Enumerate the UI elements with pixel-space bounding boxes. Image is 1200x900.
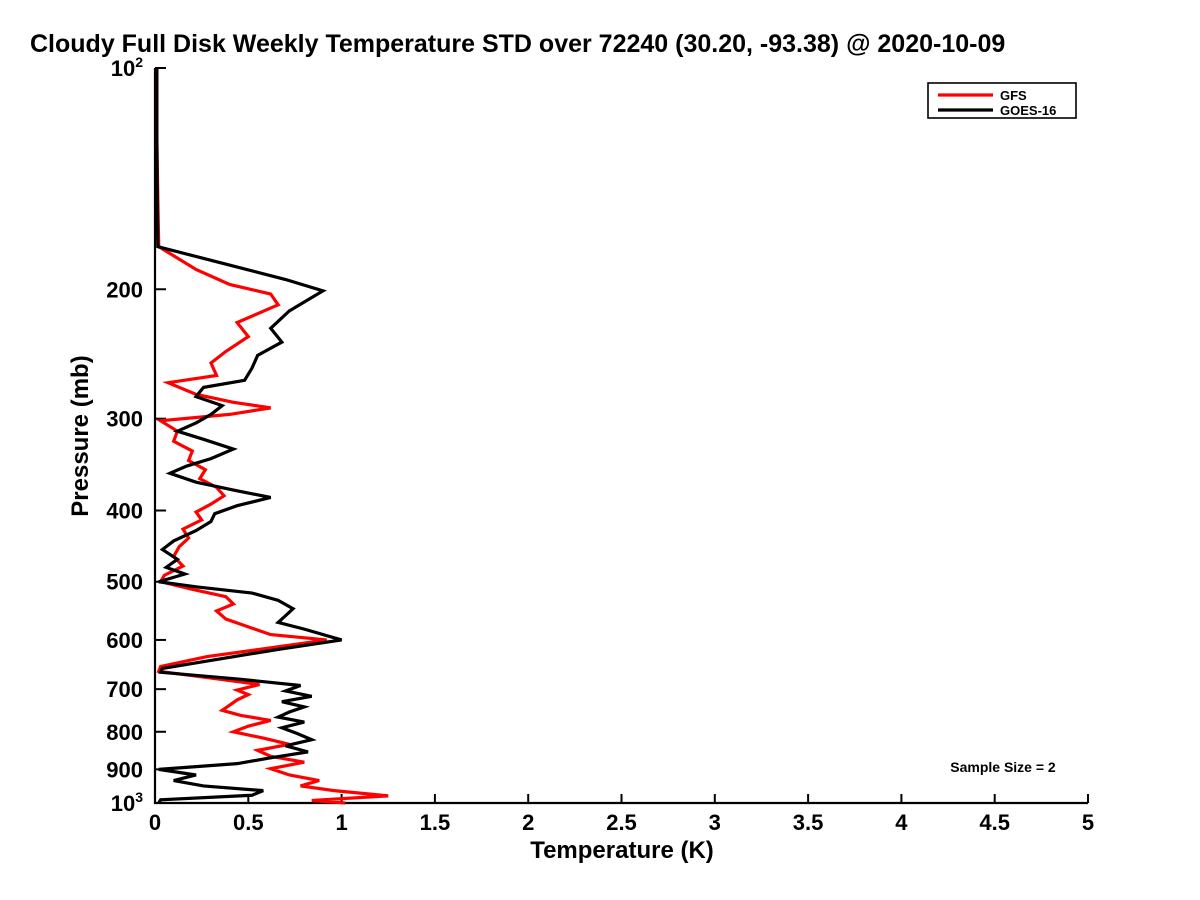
x-tick-label: 1.5 [420, 810, 451, 835]
legend-label-gfs: GFS [1000, 88, 1027, 103]
legend[interactable]: GFS GOES-16 [928, 83, 1076, 118]
y-tick-label: 700 [106, 677, 143, 702]
sample-size-annotation: Sample Size = 2 [950, 759, 1056, 775]
y-tick-label: 600 [106, 628, 143, 653]
x-axis-title: Temperature (K) [530, 837, 714, 864]
x-tick-label: 2.5 [606, 810, 637, 835]
x-tick-label: 3 [709, 810, 721, 835]
y-tick-label: 400 [106, 499, 143, 524]
legend-label-goes16: GOES-16 [1000, 103, 1056, 118]
x-tick-label: 4.5 [979, 810, 1010, 835]
y-tick-label: 800 [106, 720, 143, 745]
y-tick-label: 300 [106, 407, 143, 432]
chart-title: Cloudy Full Disk Weekly Temperature STD … [30, 30, 1005, 58]
x-tick-label: 4 [895, 810, 908, 835]
x-tick-label: 0.5 [233, 810, 264, 835]
x-tick-label: 0 [149, 810, 161, 835]
temperature-std-profile-chart: Cloudy Full Disk Weekly Temperature STD … [0, 0, 1200, 900]
x-tick-label: 1 [335, 810, 347, 835]
x-tick-label: 5 [1082, 810, 1094, 835]
y-tick-label: 900 [106, 757, 143, 782]
x-tick-label: 3.5 [793, 810, 824, 835]
y-tick-label: 500 [106, 570, 143, 595]
y-axis-title: Pressure (mb) [67, 355, 94, 516]
y-tick-label: 200 [106, 277, 143, 302]
x-tick-label: 2 [522, 810, 534, 835]
